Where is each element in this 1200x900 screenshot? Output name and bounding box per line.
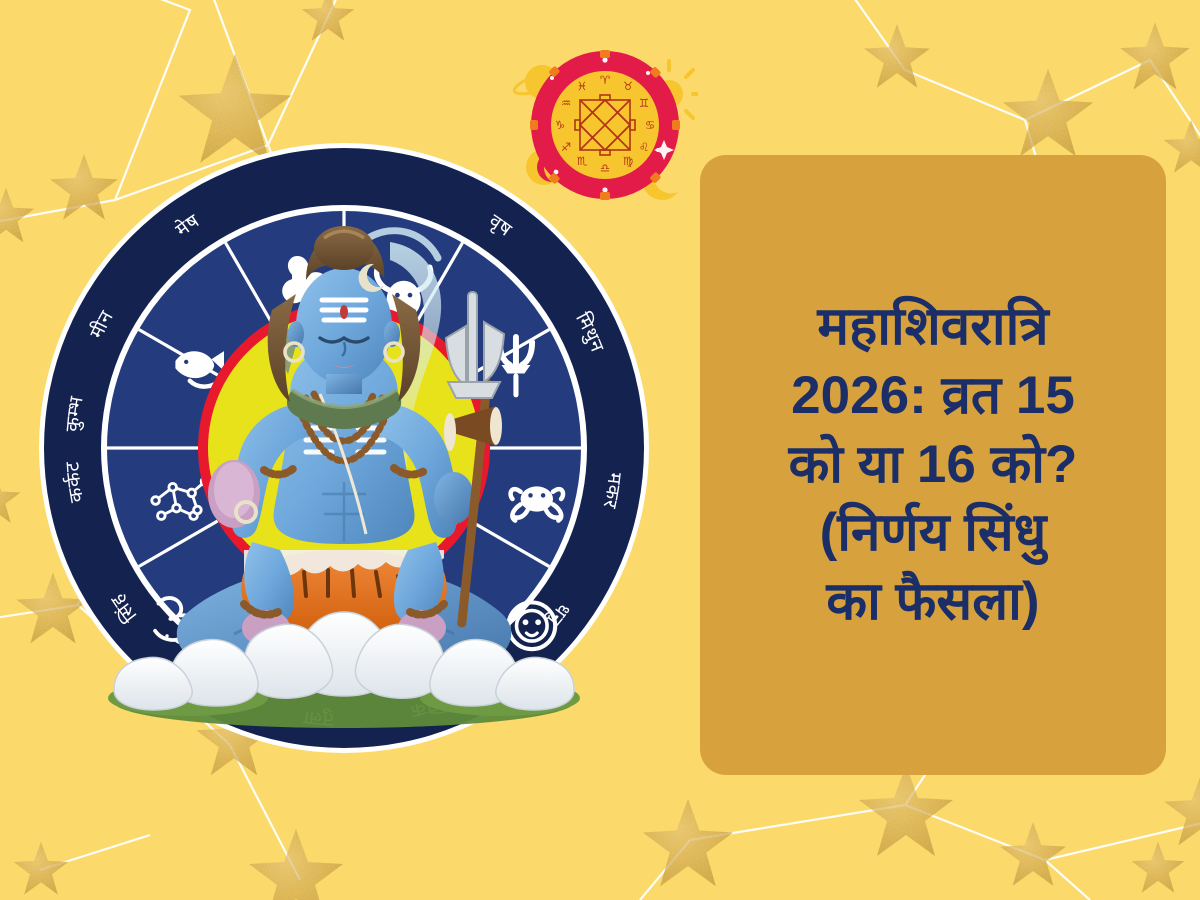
trishul-icon (444, 292, 504, 628)
svg-text:♎: ♎ (600, 161, 610, 175)
kundli-astrology-badge: ♈ ♉ ♊ ♋ ♌ ♍ ♎ ♏ ♐ ♑ ♒ ♓ (512, 32, 698, 218)
shiva-illustration (38, 142, 650, 754)
damaru-icon (444, 406, 502, 451)
svg-text:♊: ♊ (639, 96, 649, 110)
svg-text:♐: ♐ (561, 140, 571, 154)
headline-panel: महाशिवरात्रि 2026: व्रत 15 को या 16 को? … (700, 155, 1166, 775)
svg-text:♌: ♌ (639, 140, 649, 154)
abhaya-hand (208, 460, 260, 528)
svg-text:♋: ♋ (645, 118, 655, 132)
svg-text:♏: ♏ (577, 154, 587, 168)
svg-text:♒: ♒ (561, 96, 571, 110)
svg-text:♈: ♈ (600, 73, 611, 87)
poster-canvas: मेष वृष मिथुन कर्कट सिंह कन्या त (0, 0, 1200, 900)
svg-text:♑: ♑ (555, 118, 565, 132)
svg-text:♉: ♉ (623, 79, 633, 93)
svg-text:♓: ♓ (577, 79, 587, 93)
svg-text:♍: ♍ (623, 154, 633, 168)
headline-title: महाशिवरात्रि 2026: व्रत 15 को या 16 को? … (720, 293, 1146, 637)
